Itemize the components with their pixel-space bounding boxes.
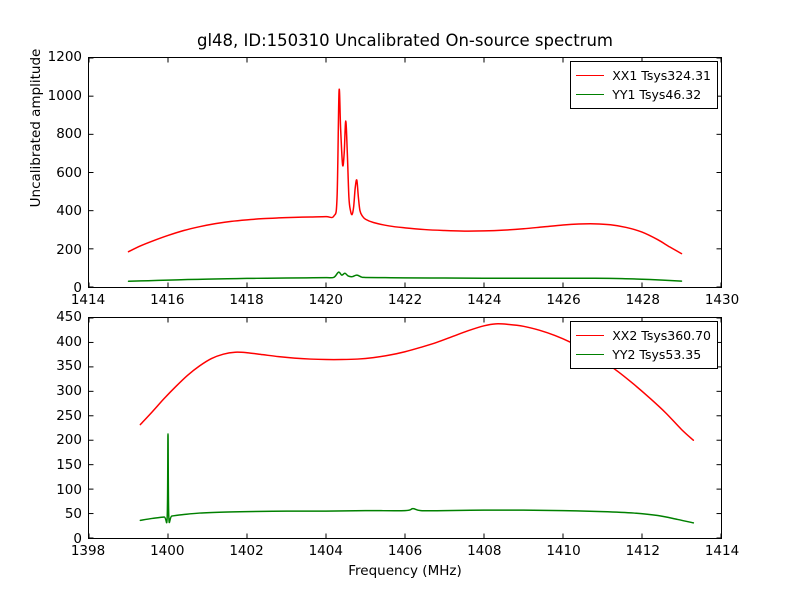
y-tick-label: 1200 [22, 49, 82, 65]
y-tick-label: 800 [22, 126, 82, 142]
x-tick-label: 1424 [454, 292, 514, 308]
legend-label: YY2 Tsys53.35 [612, 347, 701, 362]
legend-label: YY1 Tsys46.32 [612, 87, 701, 102]
y-tick-label: 100 [22, 482, 82, 498]
x-tick-label: 1398 [58, 543, 118, 559]
legend-entry: XX2 Tsys360.70 [576, 326, 711, 345]
spectrum-figure: gl48, ID:150310 Uncalibrated On-source s… [0, 0, 800, 600]
legend-line-swatch [576, 335, 604, 336]
legend-entry: YY2 Tsys53.35 [576, 345, 711, 364]
spectrum-trace [129, 89, 682, 253]
y-tick-label: 250 [22, 408, 82, 424]
x-tick-label: 1410 [534, 543, 594, 559]
x-tick-label: 1416 [137, 292, 197, 308]
y-tick-label: 50 [22, 506, 82, 522]
top-panel-traces [129, 89, 682, 281]
legend-line-swatch [576, 94, 604, 95]
x-tick-label: 1400 [137, 543, 197, 559]
x-tick-label: 1430 [692, 292, 752, 308]
x-tick-label: 1418 [217, 292, 277, 308]
x-tick-label: 1414 [58, 292, 118, 308]
y-tick-label: 350 [22, 358, 82, 374]
x-tick-label: 1422 [375, 292, 435, 308]
legend-entry: YY1 Tsys46.32 [576, 85, 711, 104]
x-tick-label: 1426 [534, 292, 594, 308]
page-title: gl48, ID:150310 Uncalibrated On-source s… [88, 31, 722, 50]
x-tick-label: 1412 [613, 543, 673, 559]
y-tick-label: 600 [22, 165, 82, 181]
y-tick-label: 400 [22, 334, 82, 350]
spectrum-trace [140, 434, 693, 523]
x-tick-label: 1408 [454, 543, 514, 559]
y-tick-label: 200 [22, 242, 82, 258]
y-tick-label: 1000 [22, 88, 82, 104]
top-panel-legend: XX1 Tsys324.31YY1 Tsys46.32 [570, 61, 718, 109]
x-tick-label: 1428 [613, 292, 673, 308]
bottom-spectrum-panel: XX2 Tsys360.70YY2 Tsys53.35 [88, 317, 722, 539]
legend-line-swatch [576, 75, 604, 76]
legend-entry: XX1 Tsys324.31 [576, 66, 711, 85]
y-tick-label: 300 [22, 383, 82, 399]
y-tick-label: 400 [22, 203, 82, 219]
y-tick-label: 200 [22, 432, 82, 448]
x-axis-label: Frequency (MHz) [88, 563, 722, 579]
x-tick-label: 1404 [296, 543, 356, 559]
x-tick-label: 1406 [375, 543, 435, 559]
legend-label: XX2 Tsys360.70 [612, 328, 711, 343]
legend-label: XX1 Tsys324.31 [612, 68, 711, 83]
x-tick-label: 1414 [692, 543, 752, 559]
spectrum-trace [129, 272, 682, 281]
y-tick-label: 150 [22, 457, 82, 473]
y-tick-label: 450 [22, 309, 82, 325]
x-tick-label: 1402 [217, 543, 277, 559]
x-tick-label: 1420 [296, 292, 356, 308]
top-spectrum-panel: XX1 Tsys324.31YY1 Tsys46.32 [88, 57, 722, 288]
bottom-panel-legend: XX2 Tsys360.70YY2 Tsys53.35 [570, 321, 718, 369]
legend-line-swatch [576, 354, 604, 355]
